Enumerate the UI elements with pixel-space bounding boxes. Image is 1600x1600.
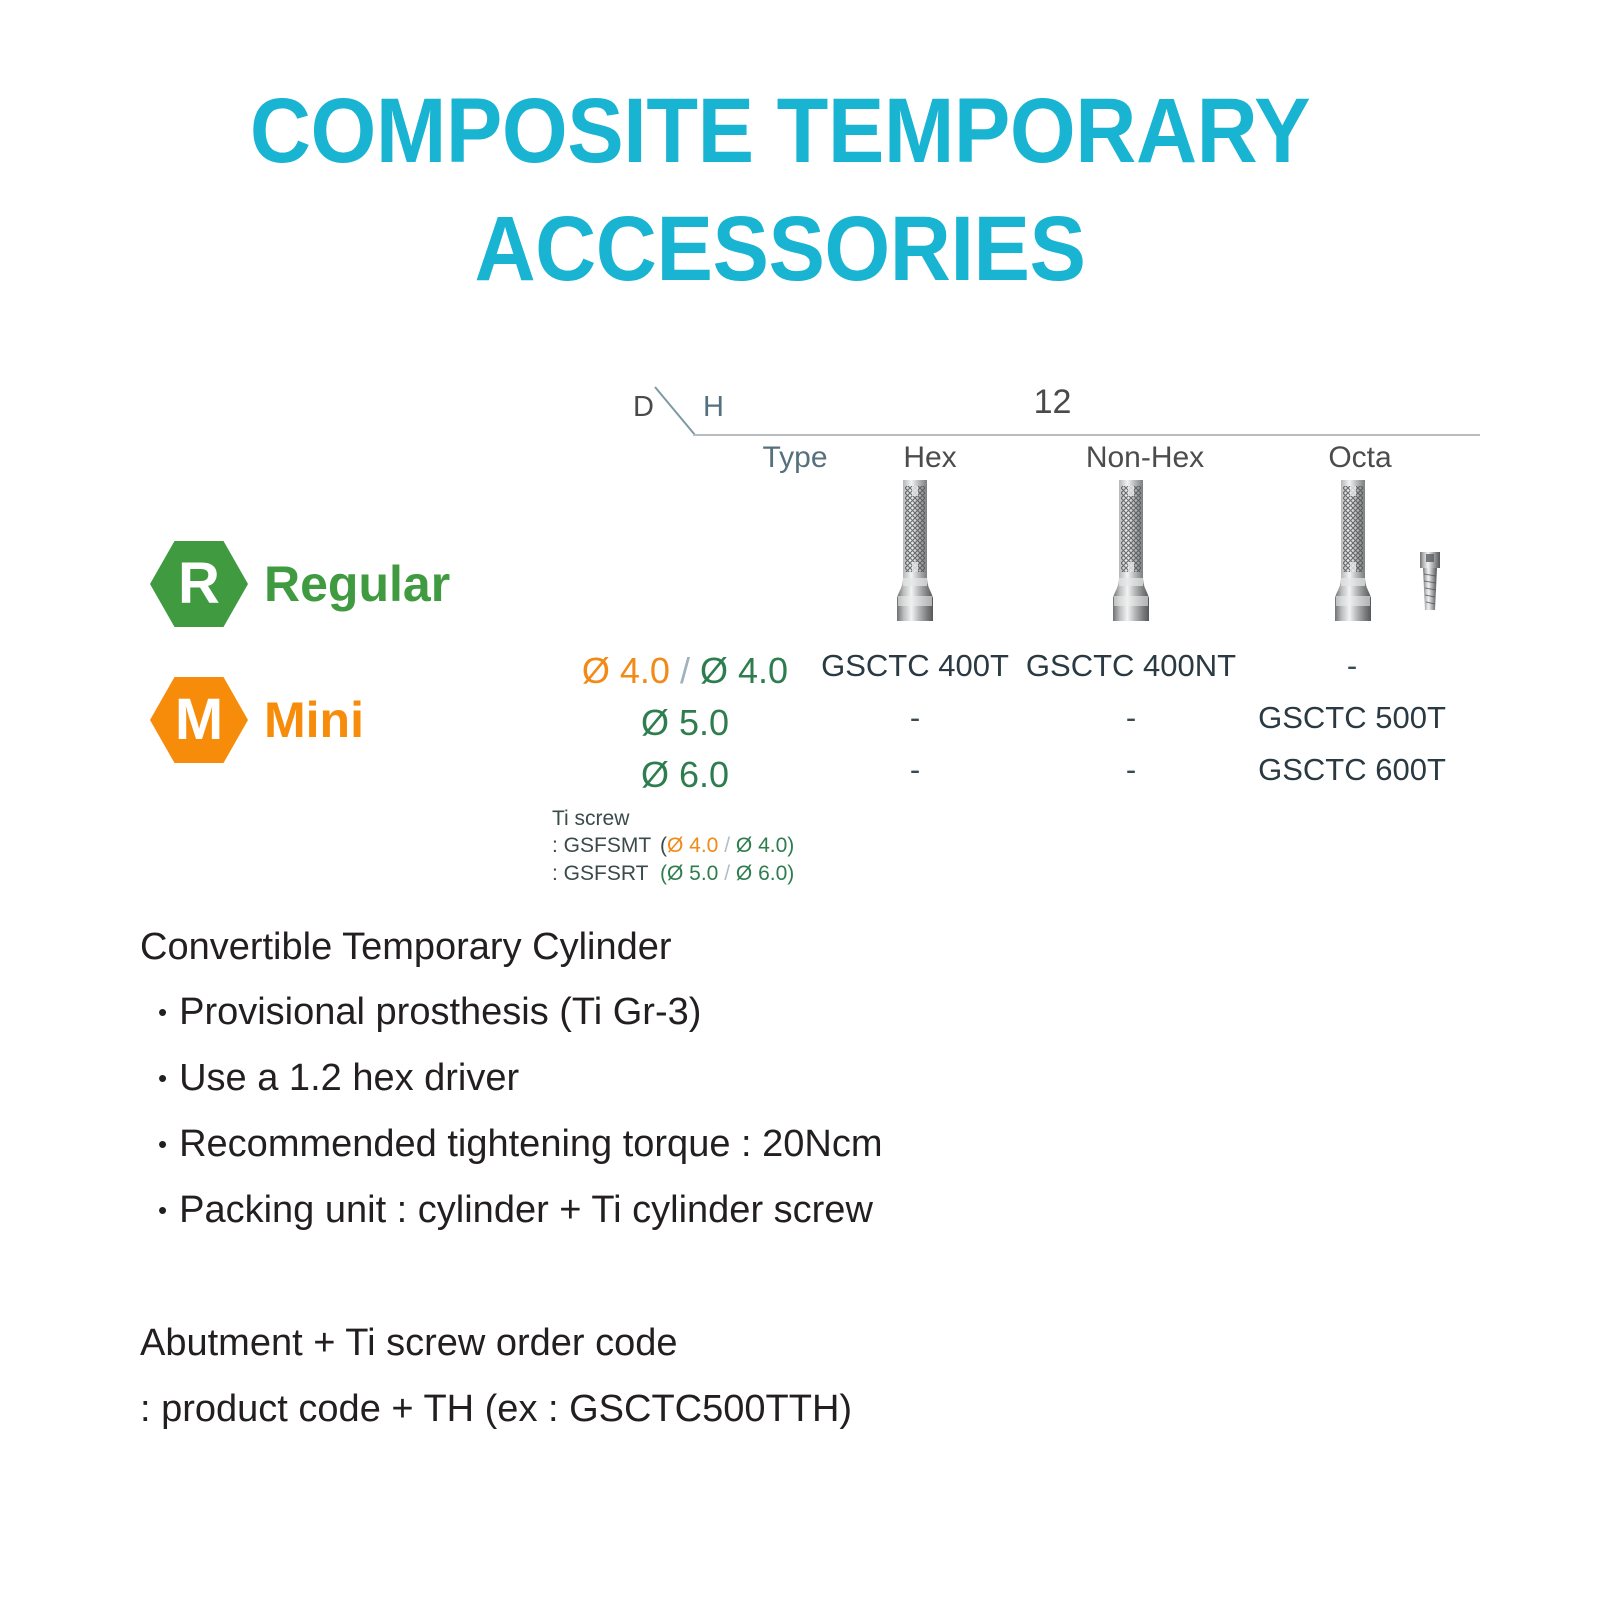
page-title: COMPOSITE TEMPORARY ACCESSORIES [80, 72, 1480, 308]
legend-item-mini: M Mini [150, 666, 450, 774]
diameter-regular-6: Ø 6.0 [641, 754, 729, 795]
order-code-block: Abutment + Ti screw order code : product… [140, 1310, 1240, 1442]
ti-screw-note-line-1: : GSFSMT(Ø 4.0 / Ø 4.0) [552, 832, 852, 860]
cylinder-non-hex-image [1106, 478, 1156, 623]
cell-hex-row1: GSCTC 400T [821, 648, 1009, 684]
ti-screw-image [1416, 550, 1444, 616]
product-table-header: 12 D H Type Hex Non-Hex Octa [625, 385, 1480, 471]
diameter-separator: / [680, 650, 690, 691]
diameter-regular-4: Ø 4.0 [700, 650, 788, 691]
cell-hex-row3: - [910, 752, 920, 788]
cell-hex-row2: - [910, 700, 920, 736]
page-title-line-1: COMPOSITE TEMPORARY [136, 72, 1424, 190]
mini-label: Mini [264, 695, 364, 745]
description-bullet-2: Use a 1.2 hex driver [140, 1045, 1240, 1111]
ti-screw-sep-1: / [724, 834, 730, 857]
height-label: 12 [625, 383, 1480, 422]
ti-screw-sep-2: / [724, 862, 730, 885]
description-bullet-4: Packing unit : cylinder + Ti cylinder sc… [140, 1177, 1240, 1243]
header-rule [693, 434, 1480, 436]
corner-diagonal-icon [625, 385, 735, 437]
order-code-line-1: Abutment + Ti screw order code [140, 1310, 1240, 1376]
description-bullet-1: Provisional prosthesis (Ti Gr-3) [140, 979, 1240, 1045]
diameter-row-2: Ø 5.0 [540, 697, 830, 749]
cell-nonhex-row1: GSCTC 400NT [1026, 648, 1236, 684]
order-code-line-2: : product code + TH (ex : GSCTC500TTH) [140, 1376, 1240, 1442]
cylinder-hex-image [890, 478, 940, 623]
ti-screw-dia-2b: Ø 6.0 [736, 862, 787, 885]
cell-octa-row1: - [1347, 648, 1357, 684]
cell-nonhex-row3: - [1126, 752, 1136, 788]
paren-close-2: ) [787, 862, 794, 885]
cell-nonhex-row2: - [1126, 700, 1136, 736]
axis-corner-cell: D H [625, 385, 735, 435]
paren-open-1: ( [660, 834, 667, 857]
description-heading: Convertible Temporary Cylinder [140, 915, 1240, 979]
mini-hex-icon: M [150, 677, 248, 763]
ti-screw-code-gsfsmt: : GSFSMT [552, 832, 660, 860]
diameter-regular-5: Ø 5.0 [641, 702, 729, 743]
diameter-column: Ø 4.0 / Ø 4.0 Ø 5.0 Ø 6.0 [540, 645, 830, 801]
ti-screw-dia-1a: Ø 4.0 [667, 834, 718, 857]
ti-screw-note-title: Ti screw [552, 805, 852, 832]
paren-open-2: ( [660, 862, 667, 885]
cell-octa-row3: GSCTC 600T [1258, 752, 1446, 788]
product-images-row [0, 470, 1600, 640]
page-title-line-2: ACCESSORIES [136, 190, 1424, 308]
ti-screw-code-gsfsrt: : GSFSRT [552, 860, 660, 888]
ti-screw-dia-1b: Ø 4.0 [736, 834, 787, 857]
paren-close-1: ) [787, 834, 794, 857]
ti-screw-note-line-2: : GSFSRT(Ø 5.0 / Ø 6.0) [552, 860, 852, 888]
cylinder-octa-image [1328, 478, 1378, 623]
diameter-row-3: Ø 6.0 [540, 749, 830, 801]
diameter-mini-4: Ø 4.0 [582, 650, 670, 691]
diameter-row-1: Ø 4.0 / Ø 4.0 [540, 645, 830, 697]
description-bullet-3: Recommended tightening torque : 20Ncm [140, 1111, 1240, 1177]
ti-screw-dia-2a: Ø 5.0 [667, 862, 718, 885]
mini-hex-letter: M [175, 691, 223, 749]
cell-octa-row2: GSCTC 500T [1258, 700, 1446, 736]
description-block: Convertible Temporary Cylinder Provision… [140, 915, 1240, 1243]
ti-screw-note: Ti screw : GSFSMT(Ø 4.0 / Ø 4.0) : GSFSR… [552, 805, 852, 888]
